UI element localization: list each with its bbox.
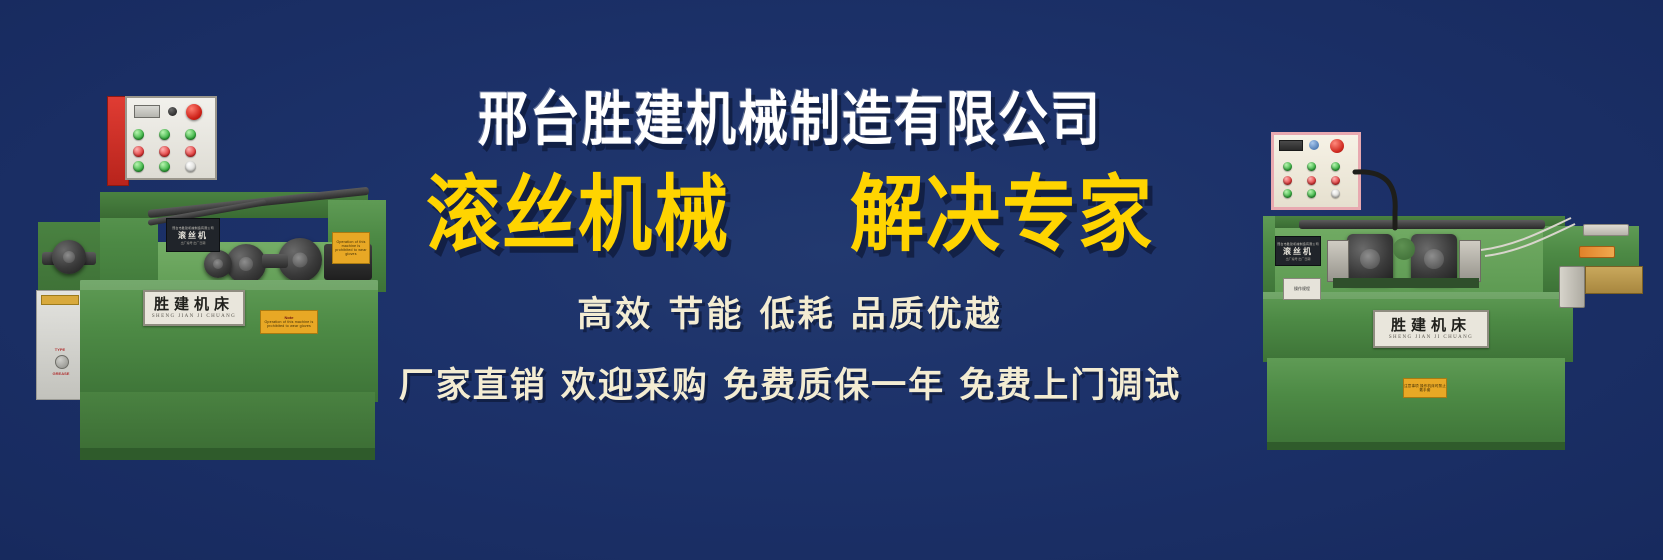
left-machine-lamp-g5[interactable] <box>159 161 170 172</box>
left-machine-lamp-r2[interactable] <box>159 146 170 157</box>
machine-photo-right: 邢台市胜建机械制造有限公司 滚丝机 出厂编号 出厂日期 操作规程 胜建机床 SH… <box>1175 130 1645 450</box>
right-machine-lamp-g1[interactable] <box>1283 162 1292 171</box>
left-machine-foot <box>80 448 375 460</box>
left-machine-lamp-g4[interactable] <box>133 161 144 172</box>
right-machine-base <box>1267 358 1565 450</box>
left-machine-lamp-g2[interactable] <box>159 129 170 140</box>
machine-photo-left: TYPE GREASE 邢台市胜建机械制造有限公司 滚丝机 出厂编号 出厂日期 <box>28 92 418 460</box>
promo-banner: TYPE GREASE 邢台市胜建机械制造有限公司 滚丝机 出厂编号 出厂日期 <box>0 0 1663 560</box>
emergency-stop-button-left[interactable] <box>186 104 202 120</box>
right-machine-chip-tray <box>1333 278 1479 288</box>
right-machine-slide-1 <box>1327 240 1349 282</box>
left-machine-brand-plate: 胜建机床 SHENG JIAN JI CHUANG <box>143 290 245 326</box>
left-machine-side-flange <box>52 240 86 274</box>
left-machine-cabinet-label-grease: GREASE <box>41 371 81 376</box>
right-machine-lamp-g4[interactable] <box>1283 189 1292 198</box>
left-machine-electrical-cabinet: TYPE GREASE <box>36 290 86 400</box>
company-name: 邢台胜建机械制造有限公司 <box>390 90 1190 149</box>
right-machine-feed-tray <box>1583 224 1629 236</box>
right-machine-lamp-w1[interactable] <box>1331 189 1340 198</box>
left-machine-body-highlight <box>80 280 378 290</box>
headline-right: 解决专家 <box>850 174 1154 257</box>
right-machine-lamp-g5[interactable] <box>1307 189 1316 198</box>
left-machine-lamp-w1[interactable] <box>185 161 196 172</box>
right-machine-roller-head-2 <box>1411 234 1457 284</box>
left-machine-roller-1 <box>226 244 266 284</box>
right-machine-handwheel <box>1393 238 1415 260</box>
left-machine-yellow-label: Operation of this machine is prohibited … <box>332 232 370 264</box>
right-machine-info-plate: 操作规程 <box>1283 278 1321 300</box>
emergency-stop-button-right[interactable] <box>1330 139 1344 153</box>
right-machine-lamp-g2[interactable] <box>1307 162 1316 171</box>
right-machine-warning-label: 注意事项 操作机床时禁止戴手套 <box>1403 378 1447 398</box>
right-machine-lamp-r3[interactable] <box>1331 176 1340 185</box>
left-machine-spec-plate: 邢台市胜建机械制造有限公司 滚丝机 出厂编号 出厂日期 <box>166 218 220 252</box>
tagline-secondary: 厂家直销 欢迎采购 免费质保一年 免费上门调试 <box>390 357 1190 408</box>
left-machine-lamp-r3[interactable] <box>185 146 196 157</box>
right-machine-lamp-r2[interactable] <box>1307 176 1316 185</box>
right-machine-cable <box>1351 166 1411 232</box>
left-machine-lamp-g1[interactable] <box>133 129 144 140</box>
right-machine-counter-display <box>1279 140 1303 151</box>
left-machine-roller-shaft <box>262 254 288 268</box>
left-machine-lamp-g3[interactable] <box>185 129 196 140</box>
headline-row: 滚丝机械 解决专家 <box>390 178 1190 252</box>
right-machine-selector-knob[interactable] <box>1309 140 1319 150</box>
right-machine-coolant-lines <box>1475 210 1585 270</box>
right-machine-roller-head-1 <box>1347 234 1393 284</box>
right-machine-lamp-r1[interactable] <box>1283 176 1292 185</box>
right-machine-brass-plate <box>1585 266 1643 294</box>
left-machine-cabinet-label-type: TYPE <box>43 347 77 352</box>
right-machine-lamp-g3[interactable] <box>1331 162 1340 171</box>
left-machine-lamp-r1[interactable] <box>133 146 144 157</box>
right-machine-spec-plate: 邢台市胜建机械制造有限公司 滚丝机 出厂编号 出厂日期 <box>1275 236 1321 266</box>
banner-text-block: 邢台胜建机械制造有限公司 滚丝机械 解决专家 高效 节能 低耗 品质优越 厂家直… <box>390 90 1190 430</box>
left-machine-note-label: Note Operation of this machine is prohib… <box>260 310 318 334</box>
tagline-primary: 高效 节能 低耗 品质优越 <box>390 286 1190 337</box>
right-machine-hydraulic-cylinder <box>1559 266 1585 308</box>
headline-left: 滚丝机械 <box>426 174 730 257</box>
right-machine-brand-plate: 胜建机床 SHENG JIAN JI CHUANG <box>1373 310 1489 348</box>
left-machine-roller-3 <box>204 250 232 278</box>
right-machine-foot <box>1267 442 1565 450</box>
left-machine-counter-display <box>134 105 160 118</box>
left-machine-selector-knob[interactable] <box>168 107 177 116</box>
